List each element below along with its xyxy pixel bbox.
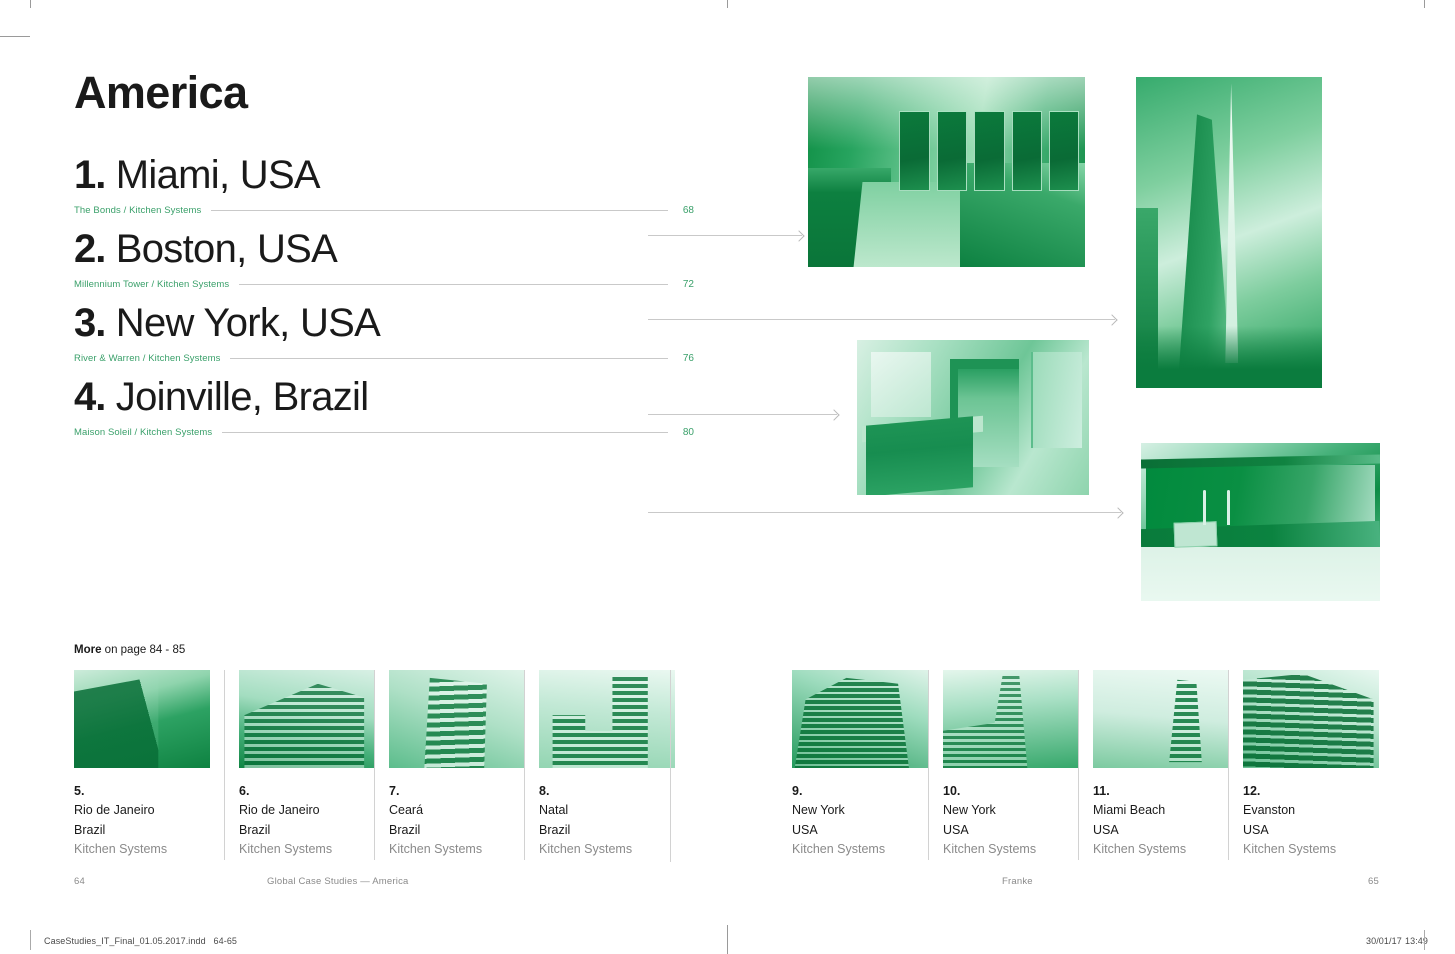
featured-entry-1-subtitle: The Bonds / Kitchen Systems — [74, 205, 201, 216]
page-title: America — [74, 70, 694, 115]
more-grid-left-end-rule — [670, 670, 671, 862]
folio-right: 65 — [1368, 876, 1379, 887]
more-item-12-number: 12. — [1243, 782, 1378, 801]
featured-entry-2[interactable]: 2. Boston, USA Millennium Tower / Kitche… — [74, 225, 694, 293]
more-item-6-number: 6. — [239, 782, 374, 801]
more-item-8-city: Natal — [539, 801, 674, 820]
more-item-11-city: Miami Beach — [1093, 801, 1228, 820]
more-item-10-number: 10. — [943, 782, 1078, 801]
more-item-7-city: Ceará — [389, 801, 524, 820]
more-item-10-country: USA — [943, 821, 1078, 840]
brand-footer: Franke — [1002, 876, 1033, 887]
more-item-9[interactable]: 9. New York USA Kitchen Systems — [778, 670, 928, 860]
more-item-7-number: 7. — [389, 782, 524, 801]
featured-entry-1-meta: The Bonds / Kitchen Systems 68 — [74, 201, 694, 219]
featured-entry-3-meta: River & Warren / Kitchen Systems 76 — [74, 349, 694, 367]
more-item-7-country: Brazil — [389, 821, 524, 840]
more-item-9-country: USA — [792, 821, 928, 840]
featured-entry-2-rule — [239, 284, 668, 285]
more-item-7-image[interactable] — [389, 670, 525, 768]
featured-entry-3-subtitle: River & Warren / Kitchen Systems — [74, 353, 220, 364]
more-item-12-caption: 12. Evanston USA Kitchen Systems — [1243, 782, 1378, 860]
more-item-8-category: Kitchen Systems — [539, 840, 674, 859]
more-item-6-country: Brazil — [239, 821, 374, 840]
slug-filename: CaseStudies_IT_Final_01.05.2017.indd 64-… — [44, 936, 237, 946]
connector-arrow-4 — [648, 512, 1121, 513]
featured-entry-3-number: 3. — [74, 301, 105, 345]
connector-arrow-2 — [648, 319, 1115, 320]
more-prefix: More — [74, 644, 101, 656]
more-item-9-category: Kitchen Systems — [792, 840, 928, 859]
featured-entry-1-rule — [211, 210, 668, 211]
more-item-11[interactable]: 11. Miami Beach USA Kitchen Systems — [1078, 670, 1228, 860]
featured-entry-1-page: 68 — [676, 205, 694, 216]
featured-entry-4-subtitle: Maison Soleil / Kitchen Systems — [74, 427, 212, 438]
featured-entry-2-page: 72 — [676, 279, 694, 290]
more-item-8-country: Brazil — [539, 821, 674, 840]
more-item-6-caption: 6. Rio de Janeiro Brazil Kitchen Systems — [239, 782, 374, 860]
more-item-12-city: Evanston — [1243, 801, 1378, 820]
faucet-icon — [1203, 490, 1206, 525]
featured-entry-1[interactable]: 1. Miami, USA The Bonds / Kitchen System… — [74, 151, 694, 219]
more-item-5-image[interactable] — [74, 670, 210, 768]
more-item-11-image[interactable] — [1093, 670, 1229, 768]
more-item-12-image[interactable] — [1243, 670, 1379, 768]
slug-rule-left — [30, 930, 31, 950]
more-item-12-country: USA — [1243, 821, 1378, 840]
featured-list: America 1. Miami, USA The Bonds / Kitche… — [74, 70, 694, 447]
more-item-9-image[interactable] — [792, 670, 928, 768]
featured-entry-4-rule — [222, 432, 668, 433]
more-item-6-image[interactable] — [239, 670, 375, 768]
more-item-12-category: Kitchen Systems — [1243, 840, 1378, 859]
slug-rule-right — [1424, 930, 1425, 950]
more-item-10-city: New York — [943, 801, 1078, 820]
featured-entry-3[interactable]: 3. New York, USA River & Warren / Kitche… — [74, 299, 694, 367]
featured-entry-1-title: 1. Miami, USA — [74, 151, 694, 199]
more-item-11-country: USA — [1093, 821, 1228, 840]
slug-date: 30/01/17 — [1366, 936, 1402, 946]
more-item-9-caption: 9. New York USA Kitchen Systems — [792, 782, 928, 860]
more-item-8-image[interactable] — [539, 670, 675, 768]
more-suffix: on page 84 - 85 — [101, 644, 185, 656]
newyork-kitchen-photo[interactable] — [857, 340, 1089, 495]
more-item-12[interactable]: 12. Evanston USA Kitchen Systems — [1228, 670, 1378, 860]
featured-entry-4-number: 4. — [74, 375, 105, 419]
more-item-11-number: 11. — [1093, 782, 1228, 801]
featured-entry-4-title: 4. Joinville, Brazil — [74, 373, 694, 421]
more-item-9-city: New York — [792, 801, 928, 820]
more-item-8-caption: 8. Natal Brazil Kitchen Systems — [539, 782, 674, 860]
boston-tower-photo[interactable] — [1136, 77, 1322, 388]
more-grid-left: 5. Rio de Janeiro Brazil Kitchen Systems… — [74, 670, 674, 860]
more-item-7-caption: 7. Ceará Brazil Kitchen Systems — [389, 782, 524, 860]
faucet-icon — [1227, 490, 1230, 525]
more-item-5-category: Kitchen Systems — [74, 840, 224, 859]
crop-mark-bottom-center — [727, 925, 728, 954]
featured-entry-2-subtitle: Millennium Tower / Kitchen Systems — [74, 279, 229, 290]
more-item-8[interactable]: 8. Natal Brazil Kitchen Systems — [524, 670, 674, 860]
featured-entry-3-title: 3. New York, USA — [74, 299, 694, 347]
miami-kitchen-photo[interactable] — [808, 77, 1085, 267]
more-item-7[interactable]: 7. Ceará Brazil Kitchen Systems — [374, 670, 524, 860]
running-head: Global Case Studies — America — [267, 876, 409, 887]
more-item-11-category: Kitchen Systems — [1093, 840, 1228, 859]
more-item-5-country: Brazil — [74, 821, 224, 840]
more-item-5-city: Rio de Janeiro — [74, 801, 224, 820]
featured-entry-4-place: Joinville, Brazil — [116, 375, 369, 419]
more-item-7-category: Kitchen Systems — [389, 840, 524, 859]
more-item-10-image[interactable] — [943, 670, 1079, 768]
connector-arrow-3 — [648, 414, 837, 415]
more-item-10-caption: 10. New York USA Kitchen Systems — [943, 782, 1078, 860]
folio-left: 64 — [74, 876, 85, 887]
spread-gutter — [728, 8, 729, 900]
featured-entry-4[interactable]: 4. Joinville, Brazil Maison Soleil / Kit… — [74, 373, 694, 441]
featured-entry-4-meta: Maison Soleil / Kitchen Systems 80 — [74, 423, 694, 441]
more-on-page-label: More on page 84 - 85 — [74, 644, 185, 656]
featured-entry-2-title: 2. Boston, USA — [74, 225, 694, 273]
more-item-11-caption: 11. Miami Beach USA Kitchen Systems — [1093, 782, 1228, 860]
more-item-5[interactable]: 5. Rio de Janeiro Brazil Kitchen Systems — [74, 670, 224, 860]
joinville-kitchen-photo[interactable] — [1141, 443, 1380, 601]
more-item-10-category: Kitchen Systems — [943, 840, 1078, 859]
more-item-8-number: 8. — [539, 782, 674, 801]
connector-arrow-1 — [648, 235, 802, 236]
more-item-6-category: Kitchen Systems — [239, 840, 374, 859]
more-grid-right: 9. New York USA Kitchen Systems 10. New … — [778, 670, 1378, 860]
page-content: America 1. Miami, USA The Bonds / Kitche… — [30, 8, 1426, 900]
more-item-5-caption: 5. Rio de Janeiro Brazil Kitchen Systems — [74, 782, 224, 860]
more-item-6-city: Rio de Janeiro — [239, 801, 374, 820]
featured-entry-3-page: 76 — [676, 353, 694, 364]
featured-entry-4-page: 80 — [676, 427, 694, 438]
featured-entry-3-rule — [230, 358, 668, 359]
featured-entry-2-number: 2. — [74, 227, 105, 271]
more-item-10[interactable]: 10. New York USA Kitchen Systems — [928, 670, 1078, 860]
featured-entry-1-place: Miami, USA — [116, 153, 320, 197]
featured-entry-1-number: 1. — [74, 153, 105, 197]
featured-entry-2-meta: Millennium Tower / Kitchen Systems 72 — [74, 275, 694, 293]
more-item-9-number: 9. — [792, 782, 928, 801]
featured-entry-3-place: New York, USA — [116, 301, 380, 345]
more-item-6[interactable]: 6. Rio de Janeiro Brazil Kitchen Systems — [224, 670, 374, 860]
more-item-5-number: 5. — [74, 782, 224, 801]
page-spread: America 1. Miami, USA The Bonds / Kitche… — [0, 0, 1455, 954]
featured-entry-2-place: Boston, USA — [116, 227, 337, 271]
